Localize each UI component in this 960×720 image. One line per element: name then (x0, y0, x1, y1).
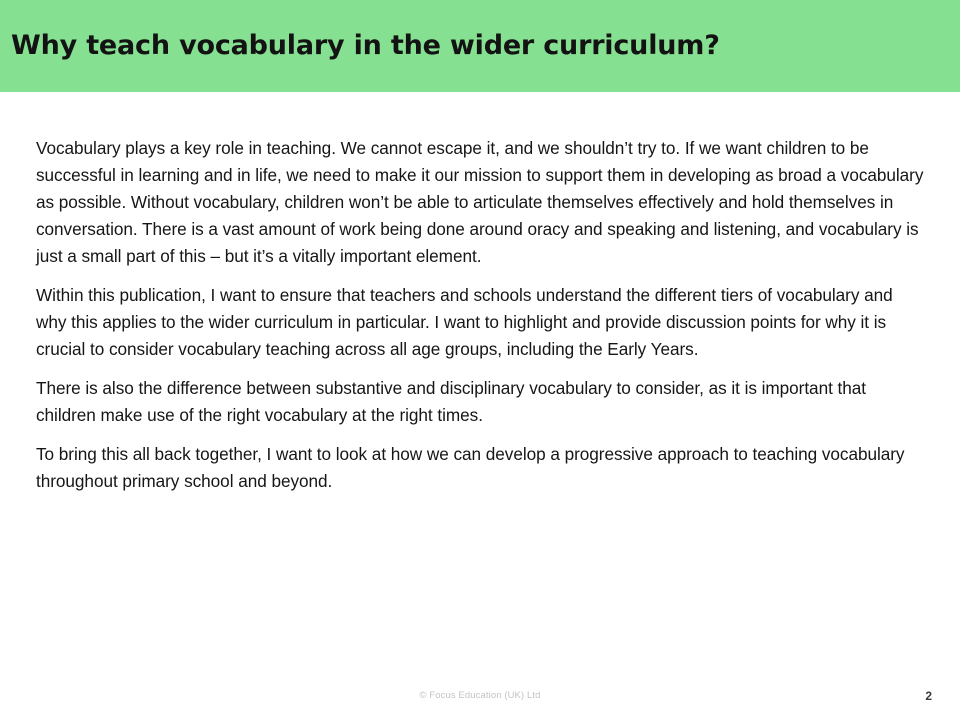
title-banner: Why teach vocabulary in the wider curric… (0, 0, 960, 92)
page-title: Why teach vocabulary in the wider curric… (0, 31, 720, 61)
copyright-credit: © Focus Education (UK) Ltd (0, 690, 960, 701)
page-number: 2 (925, 689, 932, 703)
paragraph-4: To bring this all back together, I want … (36, 441, 926, 495)
paragraph-3: There is also the difference between sub… (36, 375, 926, 429)
paragraph-1: Vocabulary plays a key role in teaching.… (36, 135, 926, 270)
paragraph-2: Within this publication, I want to ensur… (36, 282, 926, 363)
body-content: Vocabulary plays a key role in teaching.… (36, 135, 926, 495)
slide-footer: © Focus Education (UK) Ltd 2 (0, 690, 960, 712)
slide-canvas: Why teach vocabulary in the wider curric… (0, 0, 960, 720)
